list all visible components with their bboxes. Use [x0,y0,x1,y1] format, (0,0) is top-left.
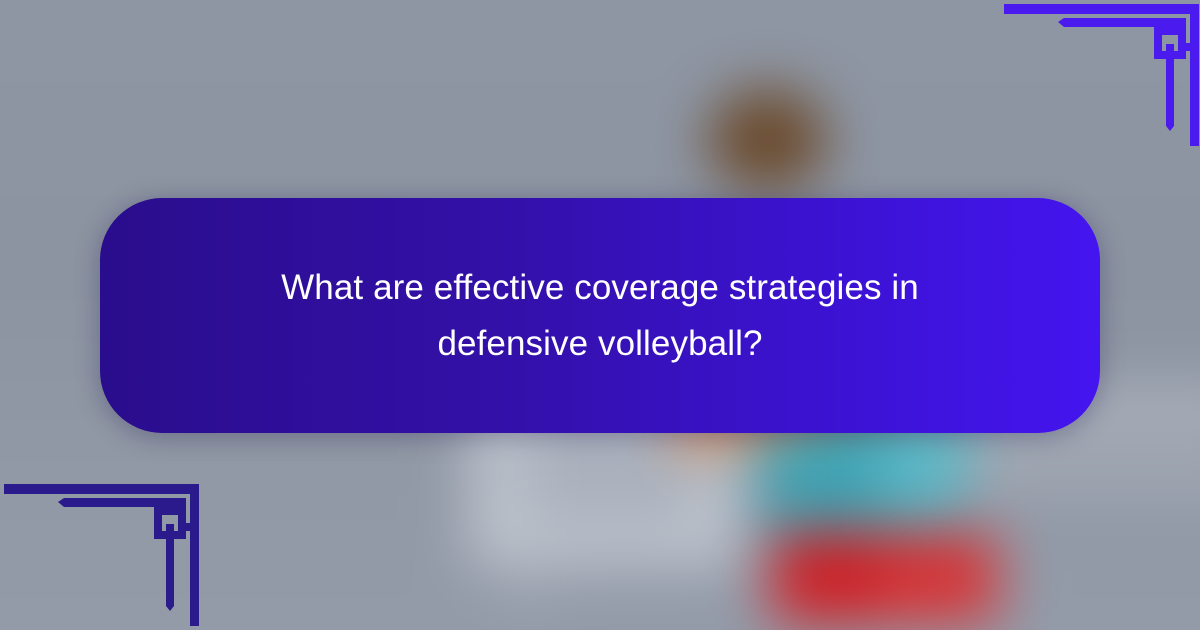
player-shorts-highlight [881,542,1000,623]
question-card: What are effective coverage strategies i… [100,198,1100,433]
question-text: What are effective coverage strategies i… [235,260,965,372]
corner-frame-top-right-icon [1000,0,1200,150]
screenshot-stage: What are effective coverage strategies i… [0,0,1200,630]
player-hair [708,88,827,191]
background-rail-lower [967,461,1200,485]
corner-frame-bottom-left-icon [0,480,200,630]
